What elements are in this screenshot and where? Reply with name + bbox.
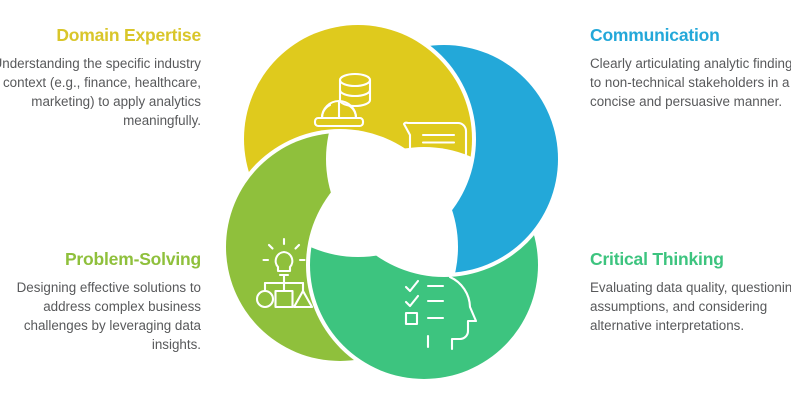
text-block-domain-expertise: Domain Expertise Understanding the speci… <box>0 26 215 130</box>
text-block-problem-solving: Problem-Solving Designing effective solu… <box>0 250 215 354</box>
description-communication: Clearly articulating analytic findings t… <box>590 54 791 111</box>
pinwheel-diagram <box>206 7 586 407</box>
infographic-canvas: Domain Expertise Understanding the speci… <box>0 0 791 419</box>
heading-communication: Communication <box>590 26 791 45</box>
heading-critical-thinking: Critical Thinking <box>590 250 791 269</box>
description-problem-solving: Designing effective solutions to address… <box>0 278 201 354</box>
description-domain-expertise: Understanding the specific industry cont… <box>0 54 201 130</box>
segment-communication[interactable] <box>330 45 558 273</box>
heading-domain-expertise: Domain Expertise <box>0 26 201 45</box>
text-block-critical-thinking: Critical Thinking Evaluating data qualit… <box>576 250 791 335</box>
description-critical-thinking: Evaluating data quality, questioning ass… <box>590 278 791 335</box>
heading-problem-solving: Problem-Solving <box>0 250 201 269</box>
text-block-communication: Communication Clearly articulating analy… <box>576 26 791 111</box>
